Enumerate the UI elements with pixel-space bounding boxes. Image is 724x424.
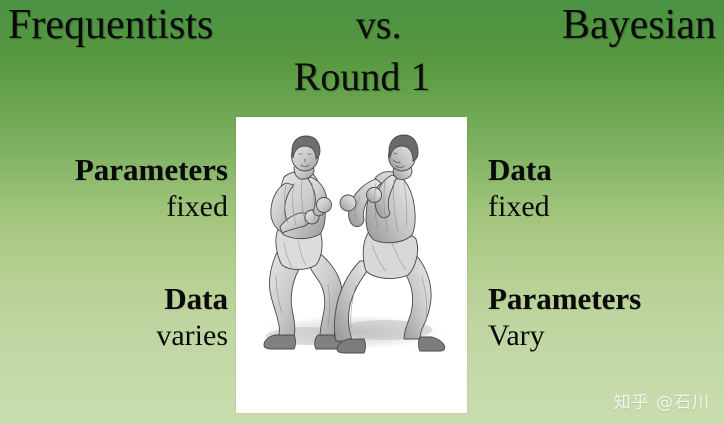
bayesian-data-qualifier: fixed [488,188,552,225]
frequentist-parameters-term: Parameters [75,152,228,188]
bayesian-data-term: Data [488,152,552,188]
title-versus: vs. [356,2,402,48]
frequentist-data-qualifier: varies [156,317,228,354]
slide-canvas: Frequentists vs. Bayesian Round 1 Parame… [0,0,724,424]
bayesian-parameters-qualifier: Vary [488,317,641,354]
boxing-engraving-icon [236,125,467,375]
frequentist-data-block: Data varies [156,281,228,354]
slide-subtitle: Round 1 [0,53,724,101]
frequentist-parameters-qualifier: fixed [75,188,228,225]
illustration-card [236,117,467,413]
bayesian-parameters-term: Parameters [488,281,641,317]
bayesian-data-block: Data fixed [488,152,552,225]
frequentist-parameters-block: Parameters fixed [75,152,228,225]
bayesian-parameters-block: Parameters Vary [488,281,641,354]
slide-title-row: Frequentists vs. Bayesian [0,2,724,48]
frequentist-data-term: Data [156,281,228,317]
title-frequentists: Frequentists [8,2,213,48]
title-bayesian: Bayesian [562,2,716,48]
zhihu-watermark: 知乎 @石川 [614,392,710,414]
